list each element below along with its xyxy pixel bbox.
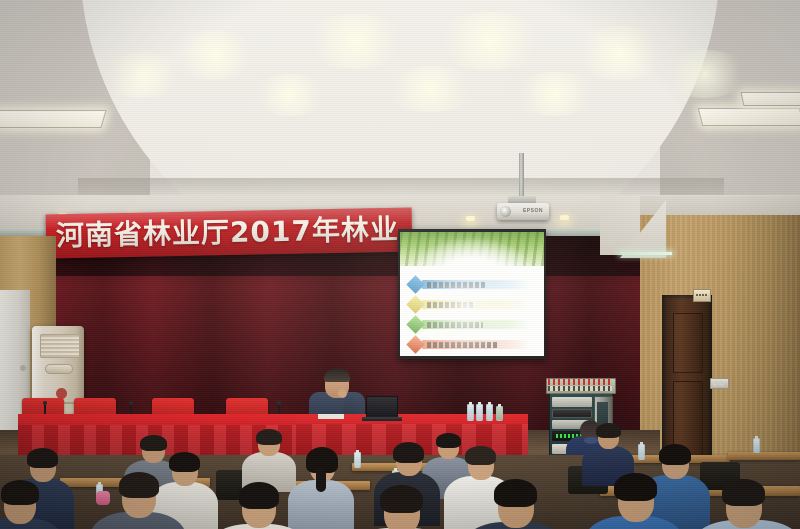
slide-bullet-row [420,300,530,309]
person-hair [596,423,621,438]
door-sign-plate [693,289,711,302]
person-hair [659,444,691,465]
water-bottle [486,404,493,421]
panel-light-right-2 [741,92,800,106]
light-switch-panel[interactable] [710,378,729,389]
projector-lens-icon [500,206,511,217]
projector-brand-label: EPSON [520,208,546,214]
person-ponytail [316,468,326,492]
vault-glow [300,14,410,69]
water-bottle [753,438,760,453]
person-hair [239,482,279,509]
person-hair [140,435,167,451]
speaker-hair [324,369,350,382]
rack-unit-amplifier [552,397,592,407]
person-hair [436,433,461,448]
person-hair [465,446,496,465]
person-hair [380,485,423,513]
slide-bullet-row [420,320,530,329]
right-wall-cove-light [620,252,672,255]
slide-bullet-row [420,280,530,289]
mixer-faders[interactable] [548,386,612,391]
slide-bullet-diamond-icon [406,335,424,353]
vault-glow [430,12,550,70]
slide-bullet-diamond-icon [406,315,424,333]
pink-cup [96,491,110,505]
air-conditioner-badge [45,364,73,374]
slide-bullet-label [427,342,499,348]
water-bottle [476,404,483,421]
person-hair [393,442,424,463]
person-hair [119,472,159,498]
audience-desk [728,452,800,460]
speaker-hand [338,389,347,398]
downlight [466,216,475,221]
mixer-knobs[interactable] [548,379,612,385]
slide-bullet-diamond-icon [406,275,424,293]
projection-screen [400,232,544,356]
vault-glow [660,50,750,98]
conference-hall-photo: 河南省林业厅2017年林业 [0,0,800,529]
vault-glow [100,52,184,98]
slide-body [400,266,544,356]
water-bottle [496,406,503,421]
downlight [560,215,569,220]
vault-glow [380,66,480,112]
technician-collar [584,437,598,444]
vault-glow [570,26,670,80]
ceiling [0,0,800,205]
water-bottle [354,452,361,468]
person-hair [27,448,58,468]
left-door-handle[interactable] [20,365,26,371]
banner-sheen [46,207,413,258]
vault-glow [250,74,330,116]
water-bottle [638,444,645,460]
person-hair [722,479,765,506]
slide-bullet-label [427,302,473,308]
panel-light-left [0,110,107,128]
door-panel [673,313,703,373]
person-hair [494,479,537,507]
laptop-keyboard[interactable] [362,417,402,421]
person-hair [256,429,282,445]
slide-forest-photo [400,232,544,270]
rack-unit-player [552,409,592,418]
person-hair [1,480,39,505]
slide-bullet-label [427,282,485,288]
vault-glow [510,72,600,116]
event-banner: 河南省林业厅2017年林业 [46,207,413,258]
slide-bullet-diamond-icon [406,295,424,313]
air-conditioner-grille [40,334,80,358]
papers-on-table [318,414,344,419]
slide-bullet-row [420,340,530,349]
slide-bullet-label [427,322,483,328]
person-hair [614,473,657,501]
water-bottle [467,404,474,421]
panel-light-right [698,108,800,126]
person-hair [169,452,200,472]
